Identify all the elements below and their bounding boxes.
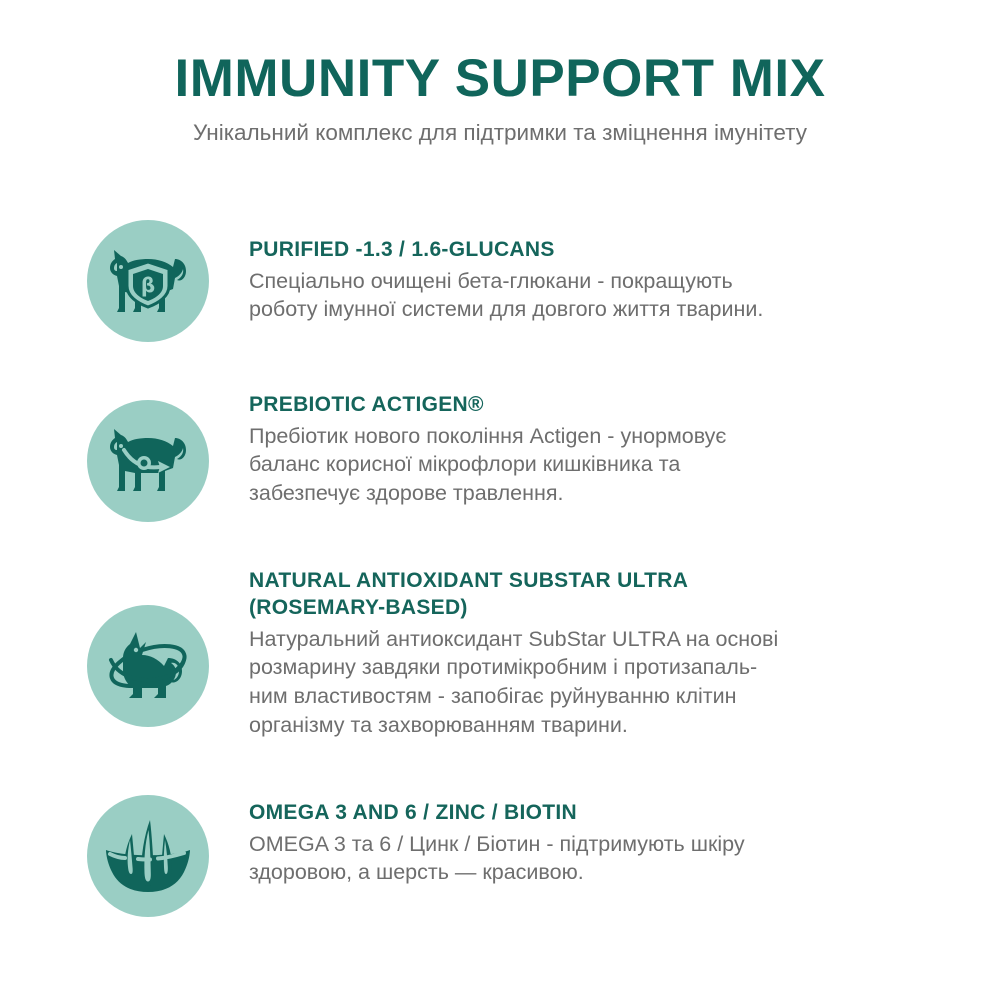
hair-follicle-skin-icon [87, 795, 209, 917]
feature-icon-wrapper [87, 795, 209, 917]
feature-heading: PREBIOTIC ACTIGEN® [249, 392, 939, 419]
feature-heading: NATURAL ANTIOXIDANT SUBSTAR ULTRA (ROSEM… [249, 568, 939, 622]
feature-icon-wrapper [87, 400, 209, 522]
dog-digestive-arrow-icon [87, 400, 209, 522]
feature-heading: PURIFIED -1.3 / 1.6-GLUCANS [249, 237, 939, 264]
page-title: IMMUNITY SUPPORT MIX [0, 52, 1000, 105]
feature-text-block: OMEGA 3 AND 6 / ZINC / BIOTIN OMEGA 3 та… [249, 800, 939, 887]
feature-heading: OMEGA 3 AND 6 / ZINC / BIOTIN [249, 800, 939, 827]
page-subtitle: Унікальний комплекс для підтримки та змі… [0, 121, 1000, 146]
feature-body: OMEGA 3 та 6 / Цинк / Біотин - підтримую… [249, 830, 939, 887]
dog-shield-beta-icon: β [87, 220, 209, 342]
feature-text-block: PURIFIED -1.3 / 1.6-GLUCANS Спеціально о… [249, 237, 939, 324]
feature-body: Натуральний антиоксидант SubStar ULTRA н… [249, 625, 939, 739]
feature-body: Спеціально очищені бета-глюкани - покращ… [249, 267, 939, 324]
feature-icon-wrapper: β [87, 220, 209, 342]
feature-icon-wrapper [87, 605, 209, 727]
header: IMMUNITY SUPPORT MIX Унікальний комплекс… [0, 0, 1000, 146]
svg-text:β: β [141, 273, 155, 297]
feature-body: Пребіотик нового покоління Actigen - уно… [249, 422, 939, 508]
feature-text-block: PREBIOTIC ACTIGEN® Пребіотик нового поко… [249, 392, 939, 508]
infographic-page: IMMUNITY SUPPORT MIX Унікальний комплекс… [0, 0, 1000, 1000]
feature-text-block: NATURAL ANTIOXIDANT SUBSTAR ULTRA (ROSEM… [249, 568, 939, 739]
sitting-dog-orbit-icon [87, 605, 209, 727]
